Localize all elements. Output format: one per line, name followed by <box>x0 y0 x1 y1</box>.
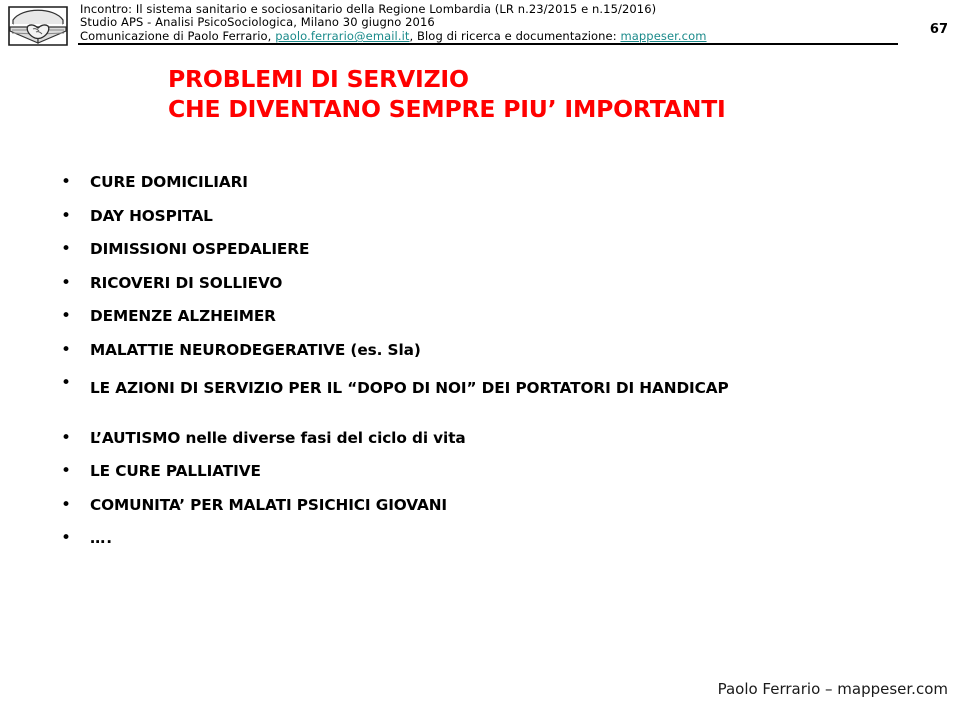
header-line-organizer: Studio APS - Analisi PsicoSociologica, M… <box>80 16 880 30</box>
list-item-label: RICOVERI DI SOLLIEVO <box>90 273 806 294</box>
bullet-icon: • <box>56 528 90 549</box>
list-item-label: DIMISSIONI OSPEDALIERE <box>90 239 806 260</box>
list-item: • …. <box>56 528 916 549</box>
list-item: • DIMISSIONI OSPEDALIERE <box>56 239 916 260</box>
list-item: • L’AUTISMO nelle diverse fasi del ciclo… <box>56 428 916 449</box>
page-number: 67 <box>930 22 948 37</box>
list-item: • MALATTIE NEURODEGERATIVE (es. Sla) <box>56 340 916 361</box>
bullet-icon: • <box>56 461 90 482</box>
list-item-label: …. <box>90 528 806 549</box>
list-item-label: LE AZIONI DI SERVIZIO PER IL “DOPO DI NO… <box>90 373 806 403</box>
header-contact-prefix: Comunicazione di Paolo Ferrario, <box>80 29 271 43</box>
bullet-icon: • <box>56 428 90 449</box>
blog-link[interactable]: mappeser.com <box>620 29 706 43</box>
header-divider-rule <box>78 43 898 45</box>
list-item-label: MALATTIE NEURODEGERATIVE (es. Sla) <box>90 340 806 361</box>
bullet-icon: • <box>56 239 90 260</box>
email-link[interactable]: paolo.ferrario@email.it <box>275 29 409 43</box>
service-problems-list: • CURE DOMICILIARI • DAY HOSPITAL • DIMI… <box>56 172 916 562</box>
open-book-handshake-logo <box>6 4 70 48</box>
slide-header: Incontro: Il sistema sanitario e sociosa… <box>0 0 960 52</box>
page-title-line-1: PROBLEMI DI SERVIZIO <box>168 64 928 94</box>
list-item: • LE AZIONI DI SERVIZIO PER IL “DOPO DI … <box>56 373 916 415</box>
header-line-contact: Comunicazione di Paolo Ferrario, paolo.f… <box>80 30 880 44</box>
header-meta-text: Incontro: Il sistema sanitario e sociosa… <box>80 2 880 43</box>
slide-footer: Paolo Ferrario – mappeser.com <box>0 680 948 698</box>
list-item-label: DAY HOSPITAL <box>90 206 806 227</box>
header-contact-middle: , Blog di ricerca e documentazione: <box>410 29 617 43</box>
bullet-icon: • <box>56 306 90 327</box>
page-title: PROBLEMI DI SERVIZIO CHE DIVENTANO SEMPR… <box>168 64 928 124</box>
list-item: • LE CURE PALLIATIVE <box>56 461 916 482</box>
bullet-icon: • <box>56 206 90 227</box>
bullet-icon: • <box>56 273 90 294</box>
list-item-label: L’AUTISMO nelle diverse fasi del ciclo d… <box>90 428 806 449</box>
bullet-icon: • <box>56 495 90 516</box>
list-item-label: DEMENZE ALZHEIMER <box>90 306 806 327</box>
page-title-line-2: CHE DIVENTANO SEMPRE PIU’ IMPORTANTI <box>168 94 928 124</box>
list-item: • COMUNITA’ PER MALATI PSICHICI GIOVANI <box>56 495 916 516</box>
header-line-event: Incontro: Il sistema sanitario e sociosa… <box>80 2 880 16</box>
list-item: • DEMENZE ALZHEIMER <box>56 306 916 327</box>
bullet-icon: • <box>56 172 90 193</box>
bullet-icon: • <box>56 373 90 394</box>
list-item: • RICOVERI DI SOLLIEVO <box>56 273 916 294</box>
list-item-label: LE CURE PALLIATIVE <box>90 461 806 482</box>
bullet-icon: • <box>56 340 90 361</box>
list-item: • CURE DOMICILIARI <box>56 172 916 193</box>
list-item-label: COMUNITA’ PER MALATI PSICHICI GIOVANI <box>90 495 806 516</box>
list-item-label: CURE DOMICILIARI <box>90 172 806 193</box>
list-item: • DAY HOSPITAL <box>56 206 916 227</box>
